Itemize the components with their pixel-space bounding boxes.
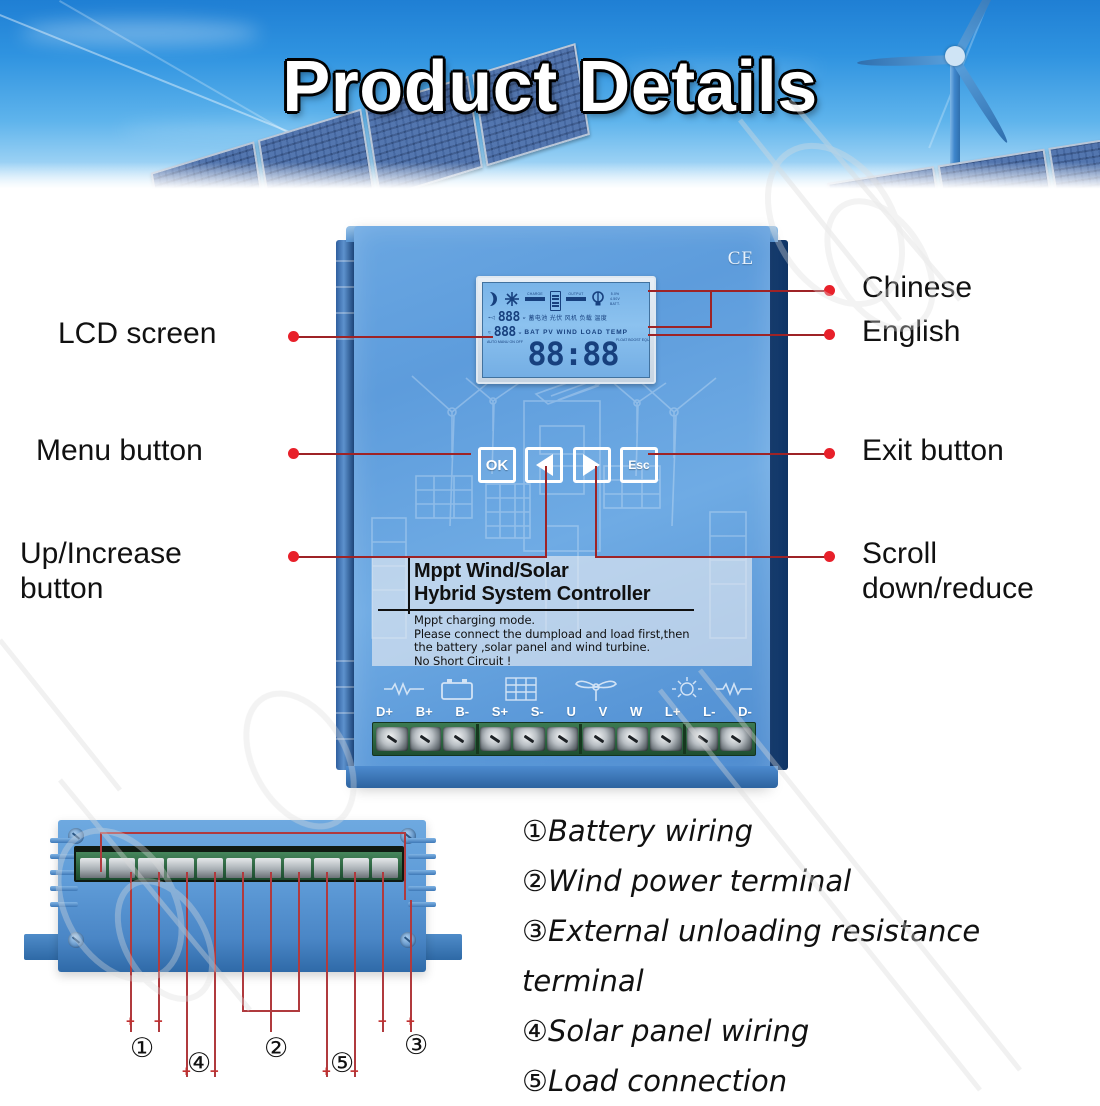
battery-level-icon xyxy=(550,287,561,311)
polarity-minus: − xyxy=(378,1014,387,1029)
callout-dot-english xyxy=(824,329,835,340)
lcd-left-segments: AUTO MANU ON OFF xyxy=(487,339,517,345)
resistor-icon xyxy=(716,682,752,696)
charge-mini-label: CHARGE xyxy=(527,292,543,296)
diagram-lead-1b xyxy=(158,872,160,1032)
terminal-screw[interactable] xyxy=(617,727,649,751)
diagram-marker-5: ⑤ xyxy=(330,1050,354,1077)
terminal-screw[interactable] xyxy=(372,858,398,878)
heatsink-fin xyxy=(408,854,436,859)
callout-scroll-down-reduce: Scroll down/reduce xyxy=(862,536,1034,606)
polarity-minus: − xyxy=(210,1064,219,1079)
legend-item-4: ④Solar panel wiring xyxy=(522,1006,1092,1056)
diagram-lead-2a xyxy=(242,872,244,1012)
leader-line-chinese-tail xyxy=(648,326,712,328)
callout-dot-up xyxy=(288,551,299,562)
output-bar-indicator: OUTPUT xyxy=(566,292,586,306)
leader-line-menu xyxy=(293,453,471,455)
terminal-screw[interactable] xyxy=(343,858,369,878)
terminal-label-b-plus: B+ xyxy=(416,704,433,719)
lcd-display: CHARGE OUTPUT xyxy=(482,282,650,378)
lcd-digits-row2: 888 xyxy=(498,310,520,325)
legend-item-3: ③External unloading resistance terminal xyxy=(522,906,1092,1006)
diagram-lead-2b xyxy=(270,872,272,1012)
diagram-marker-1: ① xyxy=(130,1035,154,1062)
wind-turbine-icon xyxy=(574,676,618,702)
terminal-labels-row: D+ B+ B- S+ S- U V W L+ L- D- xyxy=(376,704,752,719)
lcd-right-segments: FLOAT BOOST EQUAL DUMP xyxy=(616,337,646,343)
terminal-screw[interactable] xyxy=(480,727,512,751)
terminal-label-w: W xyxy=(630,704,642,719)
leader-line-scroll xyxy=(595,556,828,558)
terminal-label-v: V xyxy=(599,704,608,719)
diagram-marker-4: ④ xyxy=(187,1050,211,1077)
diagram-lead-4a xyxy=(186,872,188,1077)
callout-english: English xyxy=(862,314,960,349)
pv-arrow-icon: ⌁◁ xyxy=(488,315,495,321)
right-arrow-button[interactable] xyxy=(573,447,611,483)
resistor-icon xyxy=(384,682,424,696)
terminal-label-s-minus: S- xyxy=(531,704,544,719)
terminal-screw[interactable] xyxy=(138,858,164,878)
signal-icon: ≈ xyxy=(488,330,491,336)
callout-menu-button: Menu button xyxy=(36,433,203,468)
status-mini-labels: 5.0% 4.50V BATT. xyxy=(610,292,620,306)
battery-icon xyxy=(440,677,474,701)
callout-dot-scroll xyxy=(824,551,835,562)
terminal-label-u: U xyxy=(566,704,575,719)
diagram-lead-3a xyxy=(382,872,384,1032)
battery-icon xyxy=(550,291,561,311)
plate-body-text: Mppt charging mode. Please connect the d… xyxy=(414,614,746,668)
terminal-label-b-minus: B- xyxy=(455,704,469,719)
plate-vertical-rule xyxy=(408,558,410,614)
diagram-lead-2c xyxy=(298,872,300,1012)
lcd-icon-row: CHARGE OUTPUT xyxy=(488,287,650,311)
terminal-screw[interactable] xyxy=(513,727,545,751)
legend-item-1: ①Battery wiring xyxy=(522,806,1092,856)
diagram-rail-drop-right xyxy=(404,832,406,900)
terminal-block[interactable] xyxy=(372,722,756,756)
diagram-top-rail xyxy=(100,832,406,834)
terminal-screw[interactable] xyxy=(410,727,442,751)
terminal-label-d-minus: D- xyxy=(738,704,752,719)
terminal-screw[interactable] xyxy=(167,858,193,878)
terminal-screw[interactable] xyxy=(547,727,579,751)
heatsink-fin xyxy=(408,870,436,875)
plate-divider xyxy=(378,609,694,611)
legend-item-2: ②Wind power terminal xyxy=(522,856,1092,906)
terminal-icon-row xyxy=(378,676,748,702)
callout-chinese: Chinese xyxy=(862,270,972,305)
moon-icon xyxy=(488,291,499,307)
lcd-digits-row3: 888 xyxy=(494,325,516,340)
diagram-marker-3: ③ xyxy=(404,1032,428,1059)
plate-title-line2: Hybrid System Controller xyxy=(414,583,746,606)
product-label-plate: Mppt Wind/Solar Hybrid System Controller… xyxy=(372,556,752,666)
hero-banner: Product Details xyxy=(0,0,1100,196)
lcd-main-digits: 88:88 xyxy=(527,337,619,371)
case-screw xyxy=(400,932,416,948)
leader-line-chinese xyxy=(648,290,828,292)
terminal-screw[interactable] xyxy=(720,727,752,751)
case-screw xyxy=(68,932,84,948)
cloud-wisp xyxy=(20,20,260,46)
diagram-rail-drop-left xyxy=(100,832,102,872)
legend-item-5: ⑤Load connection xyxy=(522,1056,1092,1106)
mppt-controller-device: CE CHARGE xyxy=(336,226,788,791)
heatsink-fin xyxy=(50,838,78,843)
leader-line-lcd xyxy=(293,336,493,338)
diagram-marker-2: ② xyxy=(264,1035,288,1062)
lamp-icon xyxy=(591,290,605,308)
heatsink-fin xyxy=(408,838,436,843)
output-mini-label: OUTPUT xyxy=(568,292,583,296)
case-bottom-lip xyxy=(346,766,778,788)
terminal-screw[interactable] xyxy=(687,727,719,751)
callout-lcd-screen: LCD screen xyxy=(58,316,216,351)
callout-dot-chinese xyxy=(824,285,835,296)
terminal-screw[interactable] xyxy=(650,727,682,751)
heatsink-fin xyxy=(408,886,436,891)
lamp-icon xyxy=(672,676,702,702)
leader-line-chinese-vertical xyxy=(710,290,712,327)
polarity-minus: − xyxy=(154,1014,163,1029)
device-front-face: CE CHARGE xyxy=(354,226,770,784)
terminal-label-s-plus: S+ xyxy=(492,704,508,719)
callout-up-increase-button: Up/Increase button xyxy=(20,536,182,606)
heatsink-fin xyxy=(408,902,436,907)
wiring-legend-list: ①Battery wiring ②Wind power terminal ③Ex… xyxy=(522,806,1092,1106)
terminal-label-l-plus: L+ xyxy=(665,704,681,719)
right-triangle-icon xyxy=(583,454,600,476)
heatsink-fin xyxy=(50,902,78,907)
callout-dot-menu xyxy=(288,448,299,459)
plate-title-line1: Mppt Wind/Solar xyxy=(414,560,746,583)
polarity-plus: + xyxy=(406,1014,415,1029)
ok-button[interactable]: OK xyxy=(478,447,516,483)
diagram-lead-5b xyxy=(354,872,356,1077)
lcd-row-chinese: ⌁◁ 888 w 蓄电池 光伏 风机 负载 温度 xyxy=(488,310,607,325)
callout-dot-lcd xyxy=(288,331,299,342)
callout-dot-exit xyxy=(824,448,835,459)
diagram-lead-4b xyxy=(214,872,216,1077)
diagram-bracket-2-stem xyxy=(270,1010,272,1032)
sun-icon xyxy=(504,291,520,307)
button-row: OK Esc xyxy=(478,446,658,484)
terminal-screw[interactable] xyxy=(197,858,223,878)
leader-line-exit xyxy=(648,453,828,455)
solar-panel-icon xyxy=(504,676,538,702)
ce-mark: CE xyxy=(728,248,754,270)
hero-fade xyxy=(0,162,1100,196)
page-title: Product Details xyxy=(0,46,1100,128)
polarity-plus: + xyxy=(126,1014,135,1029)
terminal-screw[interactable] xyxy=(226,858,252,878)
callout-exit-button: Exit button xyxy=(862,433,1004,468)
leader-line-scroll-vertical xyxy=(595,466,597,558)
diagram-lead-5a xyxy=(326,872,328,1077)
terminal-screw[interactable] xyxy=(583,727,615,751)
diagram-lead-1a xyxy=(130,872,132,1032)
leader-line-up-vertical xyxy=(545,466,547,558)
terminal-label-l-minus: L- xyxy=(703,704,715,719)
lcd-screen: CHARGE OUTPUT xyxy=(476,276,656,384)
terminal-screw[interactable] xyxy=(443,727,475,751)
terminal-label-d-plus: D+ xyxy=(376,704,393,719)
leader-line-up xyxy=(293,556,547,558)
charge-bar-indicator: CHARGE xyxy=(525,292,545,306)
terminal-screw[interactable] xyxy=(376,727,408,751)
terminal-screw[interactable] xyxy=(255,858,281,878)
heatsink-fin xyxy=(50,886,78,891)
leader-line-english xyxy=(648,334,828,336)
lcd-chinese-labels: 蓄电池 光伏 风机 负载 温度 xyxy=(529,313,608,322)
